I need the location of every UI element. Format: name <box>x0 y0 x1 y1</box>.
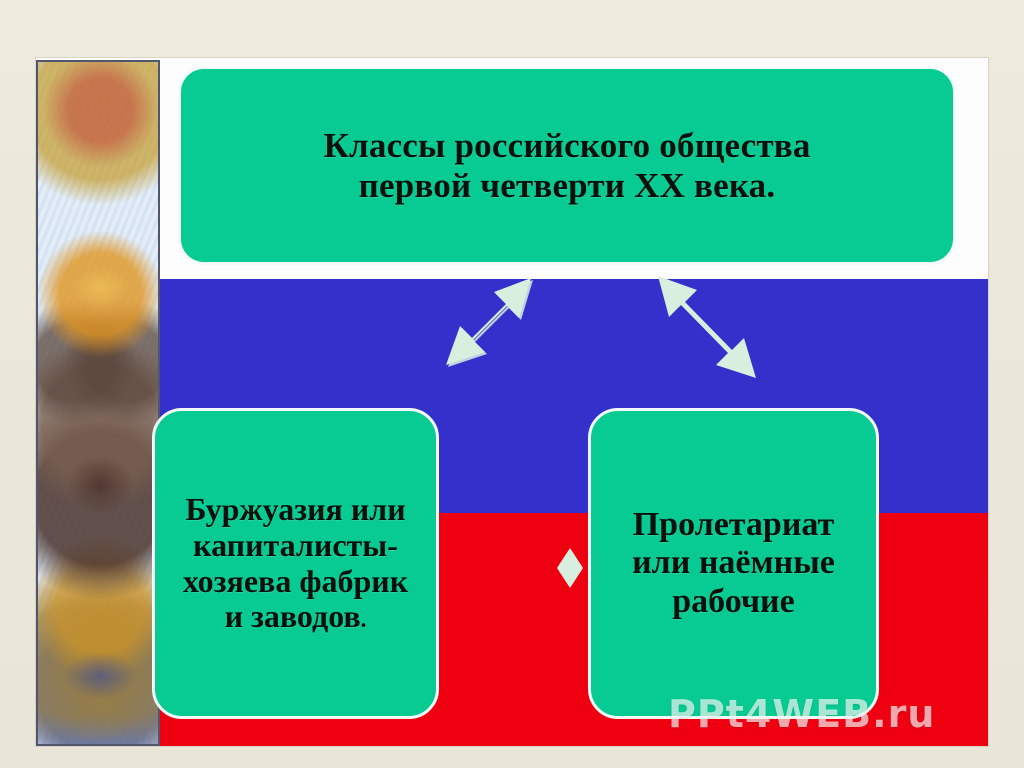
right-line-3: рабочие <box>672 583 794 620</box>
slide-title-panel: Классы российского общества первой четве… <box>178 66 956 265</box>
imperial-crest-image <box>36 60 160 746</box>
double-arrow-left-icon <box>436 270 546 400</box>
left-line-2: капиталисты- <box>193 527 398 563</box>
concept-panel-proletariat: Пролетариат или наёмные рабочие <box>588 408 879 719</box>
concept-panel-bourgeoisie-text: Буржуазия или капиталисты- хозяева фабри… <box>173 492 418 635</box>
left-line-3: хозяева фабрик <box>183 563 408 599</box>
page-canvas: Классы российского общества первой четве… <box>0 0 1024 768</box>
concept-panel-bourgeoisie: Буржуазия или капиталисты- хозяева фабри… <box>152 408 439 719</box>
double-arrow-right-icon <box>636 270 766 410</box>
left-line-1: Буржуазия или <box>185 491 405 527</box>
slide-title-text: Классы российского общества первой четве… <box>313 126 820 204</box>
concept-panel-proletariat-text: Пролетариат или наёмные рабочие <box>622 506 845 620</box>
title-line-1: Классы российского общества <box>323 126 810 165</box>
double-arrow-left <box>436 270 546 405</box>
left-line-4: и заводов <box>225 598 361 634</box>
right-line-2: или наёмные <box>632 544 835 581</box>
right-line-1: Пролетариат <box>633 506 835 543</box>
left-line-4-period: . <box>361 606 367 632</box>
double-arrow-right <box>636 270 766 415</box>
title-line-2: первой четверти XX века. <box>359 166 776 205</box>
presentation-slide: Классы российского общества первой четве… <box>36 58 988 746</box>
